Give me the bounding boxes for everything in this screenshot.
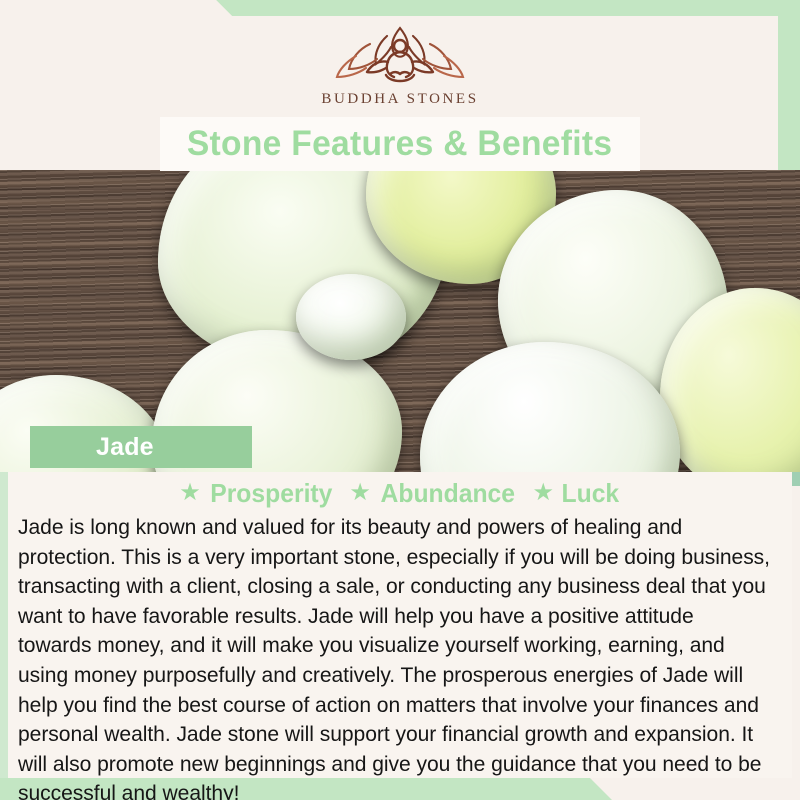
- benefit-item: ★ Prosperity: [179, 478, 335, 509]
- benefit-item: ★ Luck: [533, 478, 621, 509]
- lotus-meditation-icon: [326, 22, 474, 84]
- star-icon: ★: [533, 481, 555, 505]
- content-area: ★ Prosperity ★ Abundance ★ Luck Jade is …: [8, 472, 792, 778]
- green-left-edge-decoration: [0, 472, 8, 778]
- benefits-list: ★ Prosperity ★ Abundance ★ Luck: [8, 472, 792, 509]
- logo-block: BUDDHA STONES: [0, 22, 800, 108]
- stone-name-label: Jade: [30, 426, 252, 468]
- section-title: Stone Features & Benefits: [187, 124, 612, 164]
- brand-name: BUDDHA STONES: [321, 91, 478, 108]
- stone-shape: [296, 274, 406, 360]
- benefit-item: ★ Abundance: [349, 478, 518, 509]
- benefit-label: Prosperity: [210, 478, 332, 509]
- star-icon: ★: [349, 481, 371, 505]
- benefit-label: Abundance: [380, 478, 514, 509]
- stone-name-text: Jade: [96, 433, 154, 462]
- green-right-strip-decoration: [778, 0, 800, 186]
- section-title-banner: Stone Features & Benefits: [160, 117, 640, 171]
- infographic-page: BUDDHA STONES Stone Features & Benefits …: [0, 0, 800, 800]
- stone-description: Jade is long known and valued for its be…: [18, 513, 771, 800]
- benefit-label: Luck: [562, 478, 620, 509]
- star-icon: ★: [179, 481, 201, 505]
